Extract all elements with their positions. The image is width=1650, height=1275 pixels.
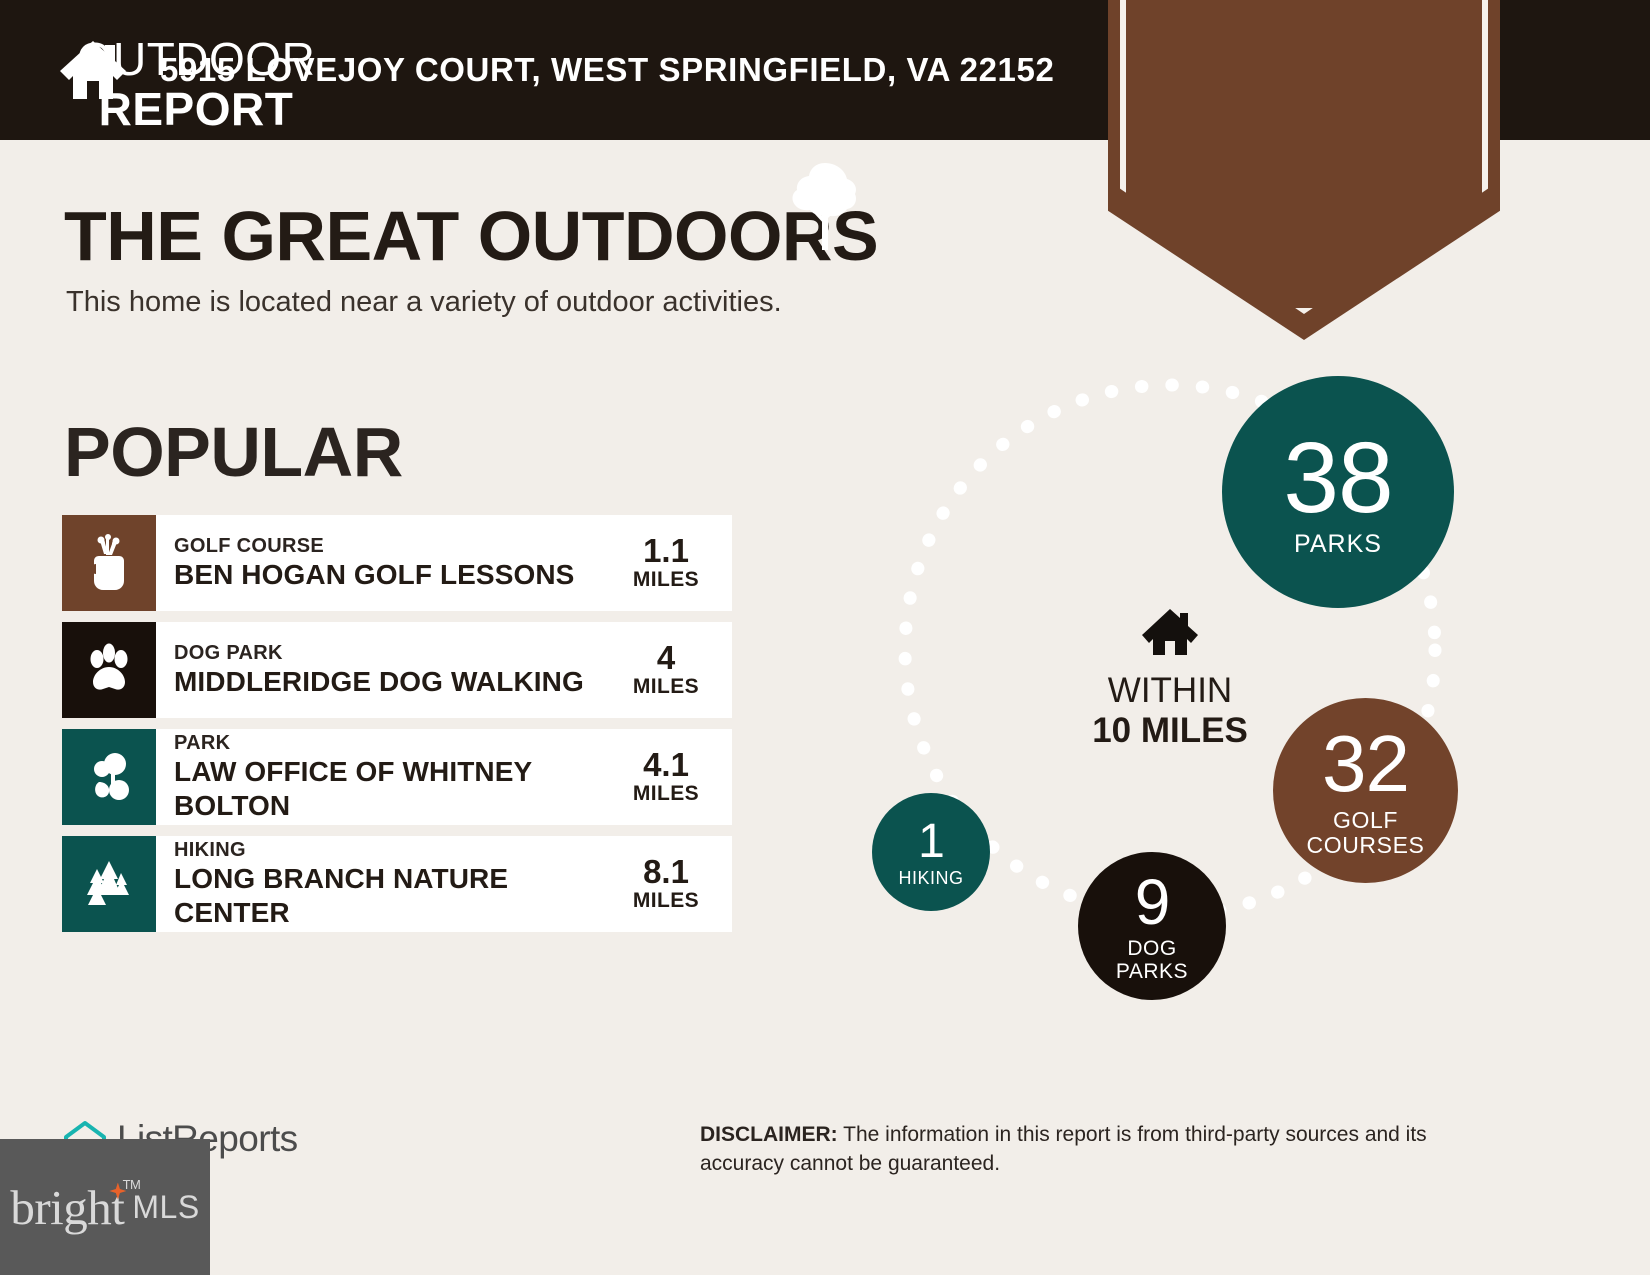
pine-trees-icon bbox=[83, 855, 135, 913]
bubble-hiking[interactable]: 1 HIKING bbox=[872, 793, 990, 911]
list-item[interactable]: PARK LAW OFFICE OF WHITNEY BOLTON 4.1 MI… bbox=[62, 729, 732, 825]
trademark-symbol: TM bbox=[123, 1177, 141, 1192]
bright-wordmark: bright TM bbox=[10, 1179, 124, 1236]
distance-unit: MILES bbox=[620, 568, 712, 592]
bubble-label: HIKING bbox=[898, 869, 963, 887]
bubble-label-line-1: GOLF bbox=[1333, 808, 1398, 833]
list-item-texts: HIKING LONG BRANCH NATURE CENTER bbox=[174, 838, 620, 930]
list-item-category: DOG PARK bbox=[174, 641, 584, 665]
list-item[interactable]: DOG PARK MIDDLERIDGE DOG WALKING 4 MILES bbox=[62, 622, 732, 718]
list-item-icon-tile bbox=[62, 729, 156, 825]
distance-value: 4 bbox=[620, 641, 712, 675]
list-item-name: BEN HOGAN GOLF LESSONS bbox=[174, 558, 574, 592]
center-label-line-1: WITHIN bbox=[1035, 671, 1305, 711]
list-item-distance: 4 MILES bbox=[620, 641, 722, 699]
bubble-golf-courses[interactable]: 32 GOLF COURSES bbox=[1273, 698, 1458, 883]
list-item-body: GOLF COURSE BEN HOGAN GOLF LESSONS 1.1 M… bbox=[156, 515, 732, 611]
list-item[interactable]: GOLF COURSE BEN HOGAN GOLF LESSONS 1.1 M… bbox=[62, 515, 732, 611]
list-item-distance: 1.1 MILES bbox=[620, 534, 722, 592]
list-item-distance: 4.1 MILES bbox=[620, 748, 722, 806]
outdoor-report-badge bbox=[1108, 0, 1500, 340]
list-item-distance: 8.1 MILES bbox=[620, 855, 722, 913]
bubble-label-line-2: PARKS bbox=[1116, 960, 1188, 983]
list-item-name: LAW OFFICE OF WHITNEY BOLTON bbox=[174, 755, 620, 823]
popular-heading: POPULAR bbox=[64, 412, 403, 492]
badge-line-1: OUTDOOR bbox=[0, 34, 392, 84]
badge-line-2: REPORT bbox=[0, 84, 392, 134]
list-item-texts: DOG PARK MIDDLERIDGE DOG WALKING bbox=[174, 641, 584, 699]
badge-inner-border bbox=[1120, 0, 1488, 314]
page-subtitle: This home is located near a variety of o… bbox=[66, 286, 782, 319]
park-trees-icon bbox=[83, 748, 135, 806]
mls-suffix: MLS bbox=[132, 1189, 199, 1226]
distance-value: 1.1 bbox=[620, 534, 712, 568]
distance-unit: MILES bbox=[620, 889, 712, 913]
distance-value: 4.1 bbox=[620, 748, 712, 782]
list-item-name: MIDDLERIDGE DOG WALKING bbox=[174, 665, 584, 699]
paw-icon bbox=[83, 641, 135, 699]
bubble-label-line-1: DOG bbox=[1127, 937, 1176, 960]
outdoor-report-page: 5915 LOVEJOY COURT, WEST SPRINGFIELD, VA… bbox=[0, 0, 1650, 1275]
list-item-category: HIKING bbox=[174, 838, 620, 862]
popular-list: GOLF COURSE BEN HOGAN GOLF LESSONS 1.1 M… bbox=[62, 515, 732, 943]
list-item-texts: GOLF COURSE BEN HOGAN GOLF LESSONS bbox=[174, 534, 574, 592]
list-item-body: DOG PARK MIDDLERIDGE DOG WALKING 4 MILES bbox=[156, 622, 732, 718]
bubble-value: 38 bbox=[1283, 428, 1392, 528]
bubble-parks[interactable]: 38 PARKS bbox=[1222, 376, 1454, 608]
list-item-icon-tile bbox=[62, 515, 156, 611]
within-10-miles-chart: WITHIN 10 MILES 38 PARKS 32 GOLF COURSES… bbox=[820, 360, 1520, 1050]
golf-bag-icon bbox=[83, 534, 135, 592]
badge-title: OUTDOOR REPORT bbox=[0, 34, 392, 134]
list-item-category: GOLF COURSE bbox=[174, 534, 574, 558]
list-item-texts: PARK LAW OFFICE OF WHITNEY BOLTON bbox=[174, 731, 620, 823]
bubble-value: 9 bbox=[1135, 870, 1170, 934]
list-item[interactable]: HIKING LONG BRANCH NATURE CENTER 8.1 MIL… bbox=[62, 836, 732, 932]
home-icon bbox=[1035, 605, 1305, 659]
list-item-category: PARK bbox=[174, 731, 620, 755]
list-item-icon-tile bbox=[62, 836, 156, 932]
list-item-name: LONG BRANCH NATURE CENTER bbox=[174, 862, 620, 930]
distance-unit: MILES bbox=[620, 782, 712, 806]
list-item-body: PARK LAW OFFICE OF WHITNEY BOLTON 4.1 MI… bbox=[156, 729, 732, 825]
list-item-body: HIKING LONG BRANCH NATURE CENTER 8.1 MIL… bbox=[156, 836, 732, 932]
disclaimer: DISCLAIMER: The information in this repo… bbox=[700, 1120, 1510, 1178]
bubble-value: 32 bbox=[1322, 724, 1409, 804]
distance-unit: MILES bbox=[620, 675, 712, 699]
center-label-line-2: 10 MILES bbox=[1035, 711, 1305, 751]
bright-text: bright bbox=[10, 1180, 124, 1235]
page-title: THE GREAT OUTDOORS bbox=[64, 196, 878, 276]
list-item-icon-tile bbox=[62, 622, 156, 718]
bubble-label-line-2: COURSES bbox=[1307, 833, 1425, 858]
bubble-value: 1 bbox=[918, 818, 944, 866]
distance-value: 8.1 bbox=[620, 855, 712, 889]
bright-mls-watermark: bright TM MLS bbox=[0, 1139, 210, 1275]
bubble-dog-parks[interactable]: 9 DOG PARKS bbox=[1078, 852, 1226, 1000]
chart-center-label: WITHIN 10 MILES bbox=[1035, 605, 1305, 751]
disclaimer-label: DISCLAIMER: bbox=[700, 1123, 838, 1146]
bubble-label: PARKS bbox=[1294, 532, 1382, 557]
